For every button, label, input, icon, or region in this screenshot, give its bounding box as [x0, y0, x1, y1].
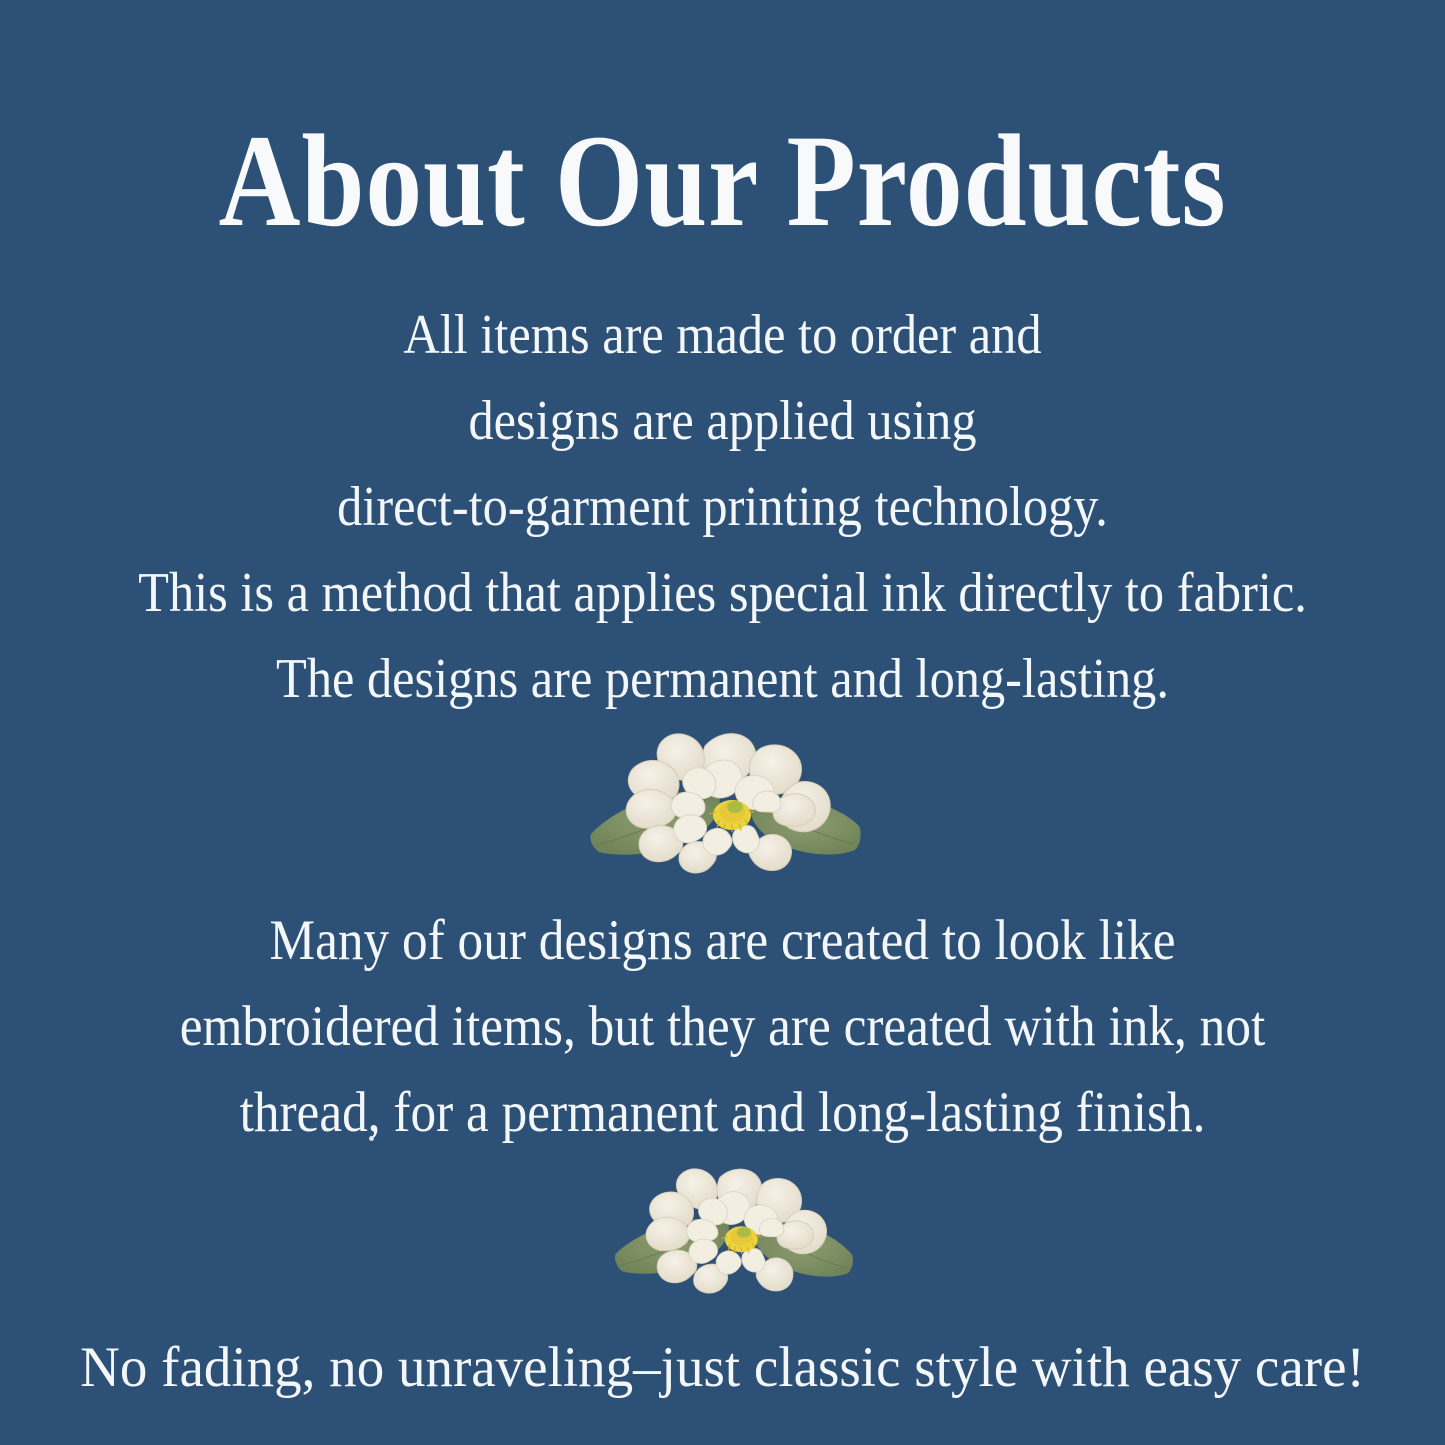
paragraph-line: No fading, no unraveling–just classic st…	[25, 1330, 1419, 1406]
paragraph-line: direct-to-garment printing technology.	[72, 464, 1373, 550]
about-our-products-graphic: About Our Products All items are made to…	[0, 0, 1445, 1445]
paragraph-line: The designs are permanent and long-lasti…	[72, 636, 1373, 722]
paragraph-line: designs are applied using	[72, 378, 1373, 464]
paragraph-line: embroidered items, but they are created …	[72, 984, 1373, 1070]
paragraph-line: thread, for a permanent and long-lasting…	[72, 1070, 1373, 1156]
paragraph-line: This is a method that applies special in…	[72, 550, 1373, 636]
magnolia-flower-icon	[585, 726, 865, 874]
magnolia-flower-icon	[612, 1162, 855, 1294]
intro-paragraph: All items are made to order and designs …	[0, 292, 1445, 722]
page-title: About Our Products	[101, 114, 1344, 249]
stray-speck-artifact	[369, 1136, 374, 1141]
paragraph-line: All items are made to order and	[72, 292, 1373, 378]
paragraph-line: Many of our designs are created to look …	[72, 898, 1373, 984]
closing-paragraph: No fading, no unraveling–just classic st…	[0, 1330, 1445, 1406]
embroidery-paragraph: Many of our designs are created to look …	[0, 898, 1445, 1156]
